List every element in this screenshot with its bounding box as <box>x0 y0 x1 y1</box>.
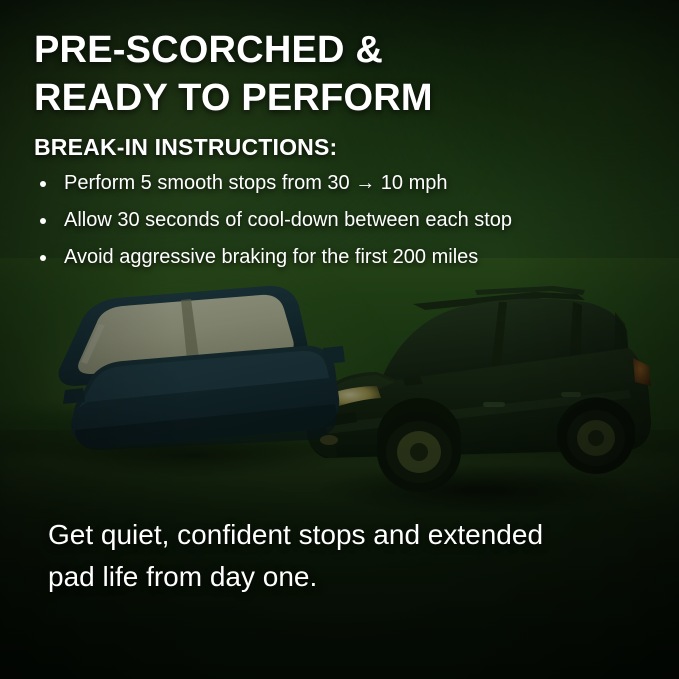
subhead-label: BREAK-IN INSTRUCTIONS: <box>34 134 337 161</box>
list-item: Allow 30 seconds of cool-down between ea… <box>34 209 644 246</box>
footer-tagline: Get quiet, confident stops and extended … <box>48 514 648 598</box>
headline: PRE-SCORCHED & READY TO PERFORM <box>34 26 644 123</box>
bullet-dot-icon <box>40 218 46 224</box>
break-in-instructions-list: Perform 5 smooth stops from 30 → 10 mph … <box>34 172 644 283</box>
list-item: Avoid aggressive braking for the first 2… <box>34 246 644 283</box>
headline-line-1: PRE-SCORCHED & <box>34 29 383 71</box>
footer-line-2: pad life from day one. <box>48 556 648 598</box>
bullet-dot-icon <box>40 255 46 261</box>
bullet-dot-icon <box>40 181 46 187</box>
marketing-image: PRE-SCORCHED & READY TO PERFORM BREAK-IN… <box>0 0 679 679</box>
list-item-label: Perform 5 smooth stops from 30 → 10 mph <box>64 172 448 194</box>
footer-line-1: Get quiet, confident stops and extended <box>48 519 543 550</box>
list-item: Perform 5 smooth stops from 30 → 10 mph <box>34 172 644 209</box>
list-item-label: Allow 30 seconds of cool-down between ea… <box>64 209 512 231</box>
headline-line-2: READY TO PERFORM <box>34 74 644 122</box>
list-item-label: Avoid aggressive braking for the first 2… <box>64 246 478 268</box>
